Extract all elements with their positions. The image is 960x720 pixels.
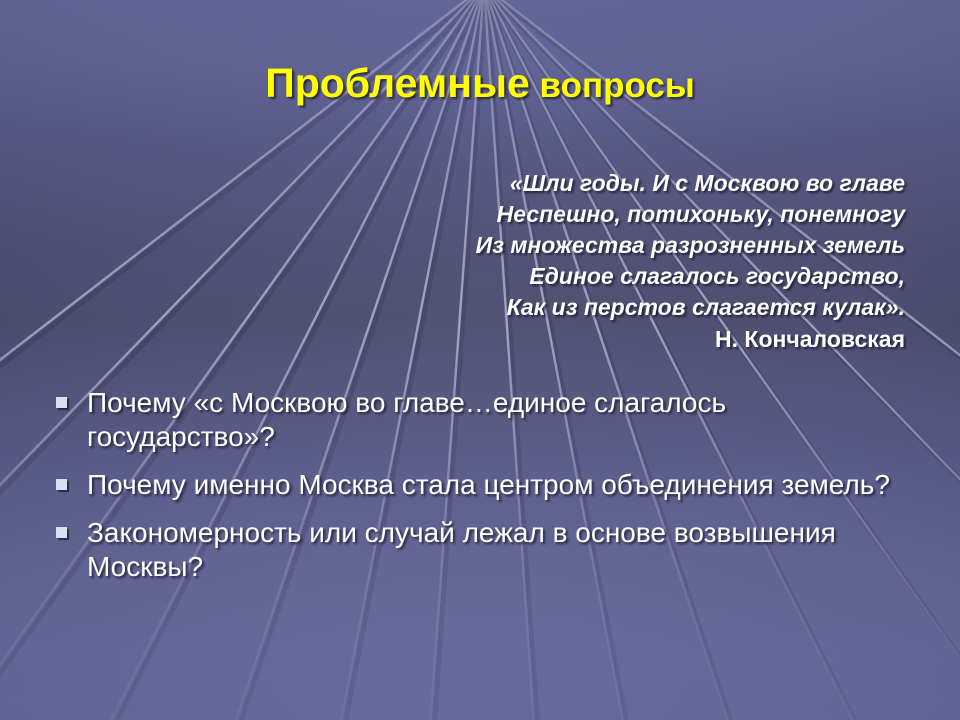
square-bullet-icon bbox=[56, 527, 67, 538]
list-item: Закономерность или случай лежал в основе… bbox=[56, 516, 906, 584]
perspective-grid-background bbox=[0, 0, 960, 720]
quote-block: «Шли годы. И с Москвою во главе Неспешно… bbox=[285, 168, 905, 356]
quote-author: Н. Кончаловская bbox=[285, 323, 905, 356]
quote-line: «Шли годы. И с Москвою во главе bbox=[285, 168, 905, 199]
list-item: Почему «с Москвою во главе…единое слагал… bbox=[56, 386, 906, 454]
quote-line: Из множества разрозненных земель bbox=[285, 230, 905, 261]
list-item: Почему именно Москва стала центром объед… bbox=[56, 468, 906, 502]
list-item-label: Закономерность или случай лежал в основе… bbox=[87, 516, 906, 584]
square-bullet-icon bbox=[56, 397, 67, 408]
presentation-slide: Проблемные вопросы «Шли годы. И с Москво… bbox=[0, 0, 960, 720]
slide-title: Проблемные вопросы bbox=[0, 60, 960, 107]
list-item-label: Почему именно Москва стала центром объед… bbox=[87, 468, 906, 502]
question-list: Почему «с Москвою во главе…единое слагал… bbox=[56, 386, 906, 598]
list-item-label: Почему «с Москвою во главе…единое слагал… bbox=[87, 386, 906, 454]
quote-line: Неспешно, потихоньку, понемногу bbox=[285, 199, 905, 230]
slide-title-sub: вопросы bbox=[530, 66, 695, 105]
quote-line: Единое слагалось государство, bbox=[285, 261, 905, 292]
square-bullet-icon bbox=[56, 479, 67, 490]
slide-title-main: Проблемные bbox=[265, 60, 530, 106]
quote-line: Как из перстов слагается кулак». bbox=[285, 292, 905, 323]
